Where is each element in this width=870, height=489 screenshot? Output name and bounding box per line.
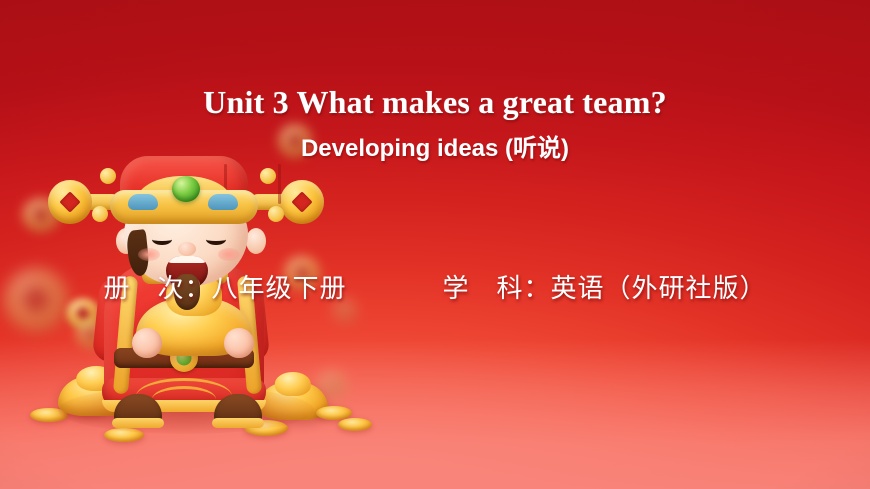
hat-cloud-pattern (208, 194, 238, 210)
mascot-boot-sole (212, 418, 264, 428)
hat-knob-icon (100, 168, 116, 184)
hat-coin-icon (48, 180, 92, 224)
slide-subtitle: Developing ideas (听说) (0, 128, 870, 163)
hat-coin-icon (280, 180, 324, 224)
presentation-slide: Unit 3 What makes a great team? Developi… (0, 0, 870, 489)
mascot-hand-right (224, 328, 254, 358)
hat-cloud-pattern (128, 194, 158, 210)
hat-knob-icon (268, 206, 284, 222)
hat-knob-icon (260, 168, 276, 184)
mascot-eye-right (206, 234, 226, 245)
meta-volume: 册 次：八年级下册 (103, 268, 346, 305)
mascot-eye-left (152, 234, 172, 245)
slide-title: Unit 3 What makes a great team? (0, 84, 870, 121)
hat-jewel-icon (172, 176, 200, 202)
mascot-cheek-right (218, 248, 240, 261)
ground-coin-icon (338, 418, 372, 431)
meta-subject: 学 科：英语（外研社版） (443, 268, 767, 305)
mascot-nose (178, 242, 196, 256)
mascot-hand-left (132, 328, 162, 358)
mascot-ear-right (246, 228, 266, 254)
mascot-boot-sole (112, 418, 164, 428)
hat-knob-icon (92, 206, 108, 222)
mascot-cheek-left (138, 248, 160, 261)
slide-meta-row: 册 次：八年级下册 学 科：英语（外研社版） (0, 268, 870, 305)
